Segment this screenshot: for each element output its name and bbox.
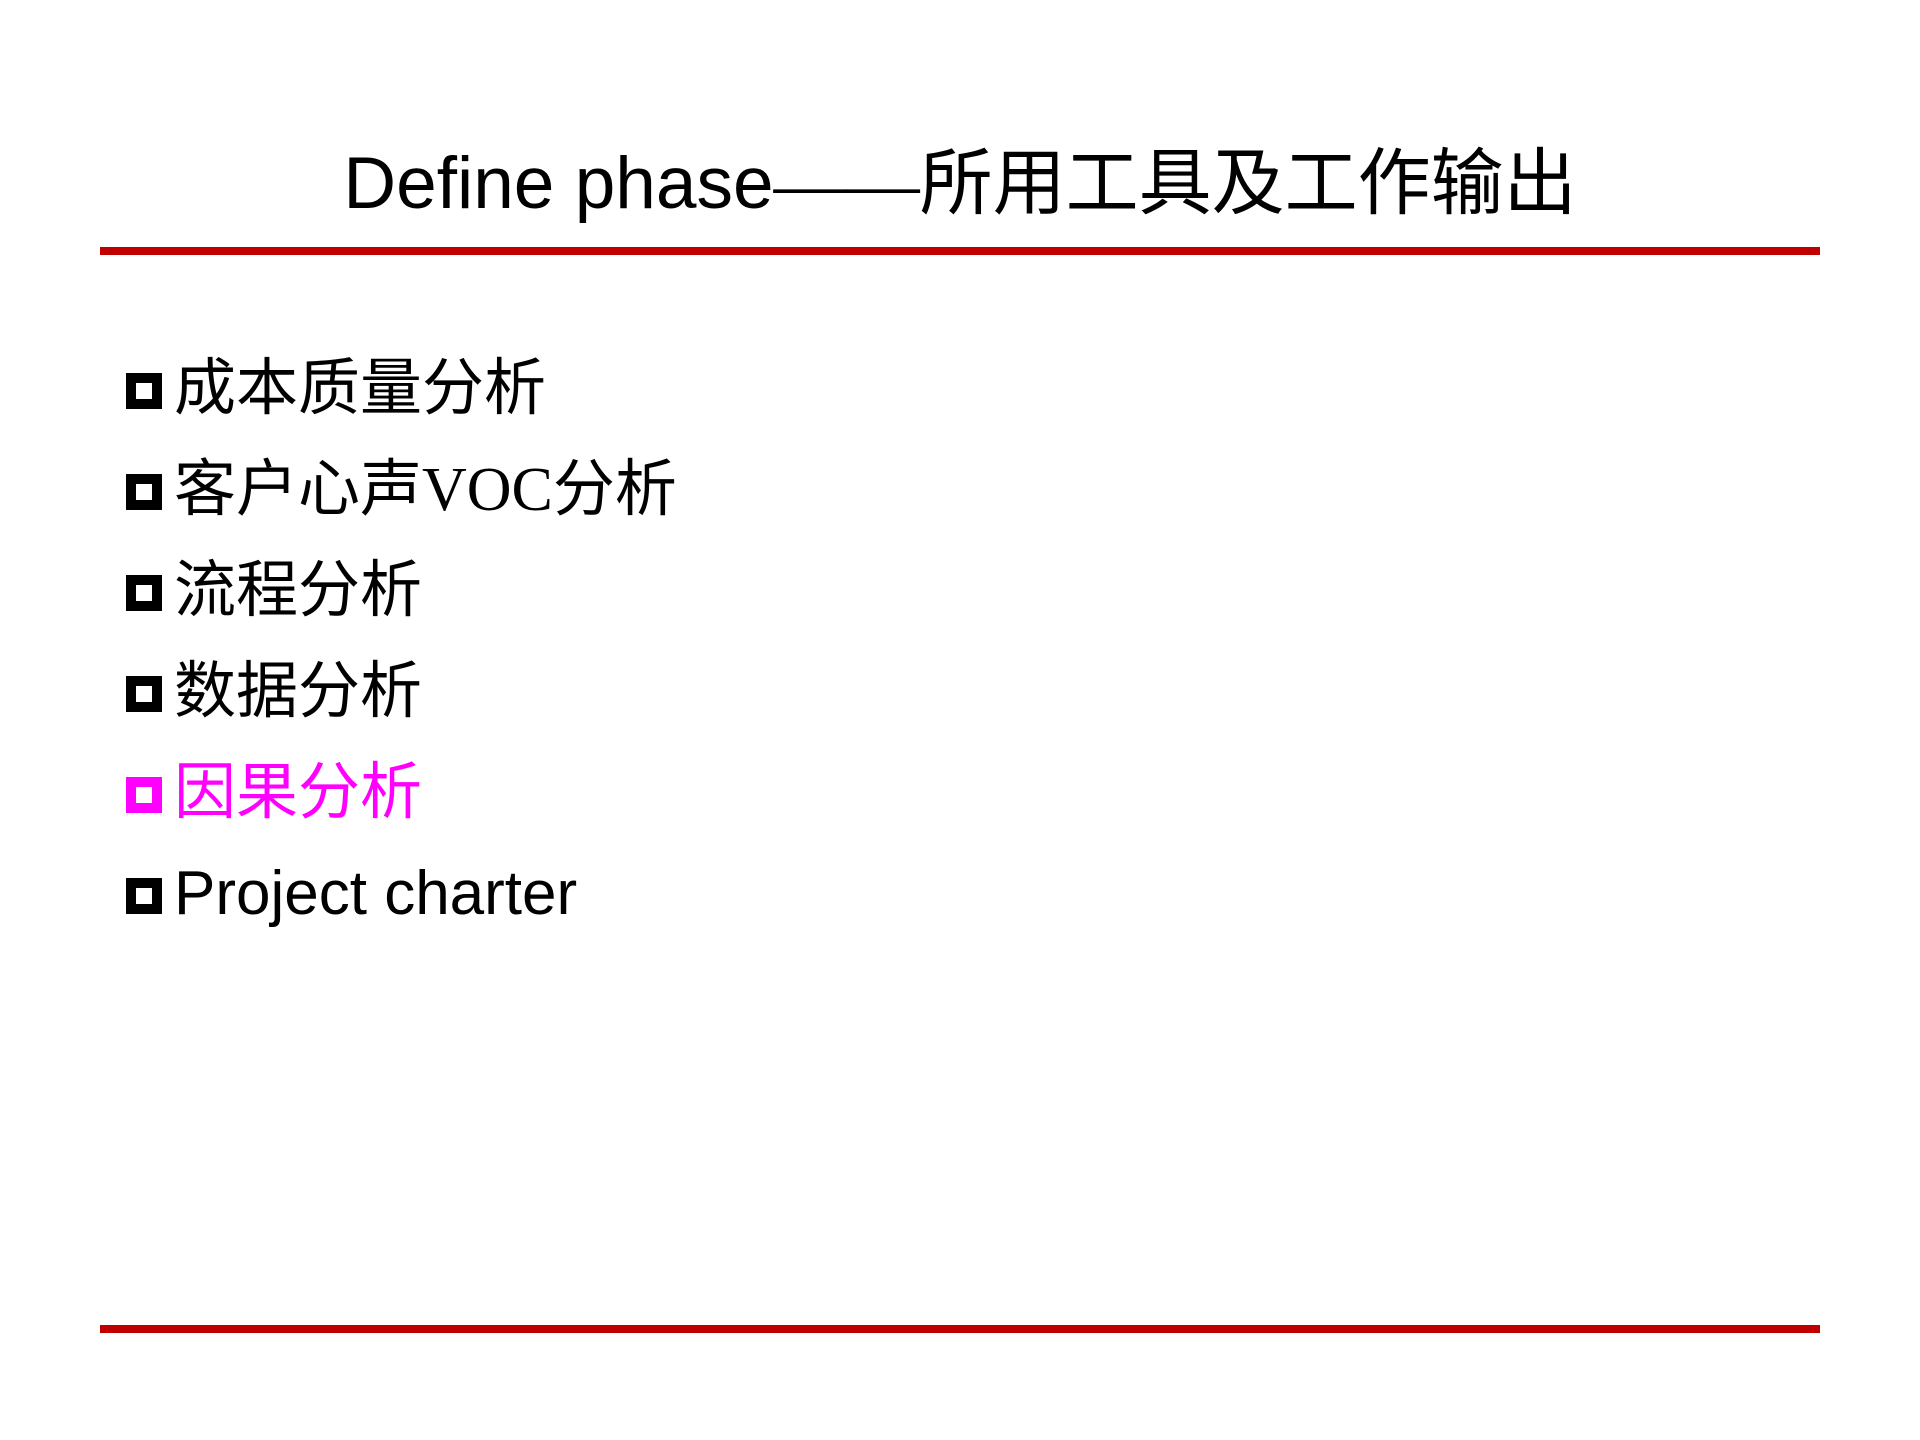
- title-divider-rule-top: [100, 247, 1820, 255]
- title-block: Define phase——所用工具及工作输出: [0, 98, 1920, 269]
- page-title: Define phase——所用工具及工作输出: [343, 147, 1576, 220]
- hollow-square-bullet-icon: [126, 878, 162, 914]
- list-item[interactable]: 成本质量分析: [126, 338, 1726, 439]
- list-item[interactable]: Project charter: [126, 843, 1726, 944]
- footer-divider-rule-bottom: [100, 1325, 1820, 1333]
- list-item[interactable]: 客户心声VOC分析: [126, 439, 1726, 540]
- hollow-square-bullet-icon: [126, 777, 162, 813]
- list-item-label: 数据分析: [174, 661, 422, 723]
- tools-output-bullet-list: 成本质量分析 客户心声VOC分析 流程分析 数据分析 因果分析 Project …: [126, 338, 1726, 944]
- page-title-cjk: 所用工具及工作输出: [920, 143, 1577, 224]
- list-item-highlighted[interactable]: 因果分析: [126, 742, 1726, 843]
- slide-canvas: Define phase——所用工具及工作输出 成本质量分析 客户心声VOC分析…: [0, 0, 1920, 1440]
- hollow-square-bullet-icon: [126, 676, 162, 712]
- page-title-dash: ——: [774, 143, 920, 224]
- list-item-label: 因果分析: [174, 762, 422, 824]
- page-title-latin: Define phase: [343, 143, 773, 224]
- hollow-square-bullet-icon: [126, 474, 162, 510]
- list-item-label: Project charter: [174, 863, 577, 925]
- list-item-label: 客户心声VOC分析: [174, 459, 677, 521]
- list-item-label: 成本质量分析: [174, 358, 546, 420]
- hollow-square-bullet-icon: [126, 373, 162, 409]
- list-item[interactable]: 流程分析: [126, 540, 1726, 641]
- list-item-label: 流程分析: [174, 560, 422, 622]
- hollow-square-bullet-icon: [126, 575, 162, 611]
- list-item[interactable]: 数据分析: [126, 641, 1726, 742]
